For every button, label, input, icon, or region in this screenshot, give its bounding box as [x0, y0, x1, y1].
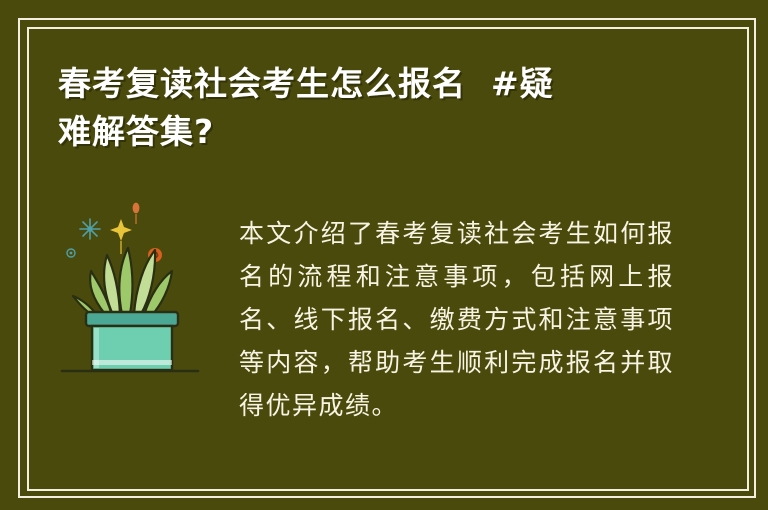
potted-plant-icon	[58, 192, 233, 382]
plant-pot	[86, 312, 178, 370]
title-line-2: 难解答集?	[58, 108, 678, 156]
potted-plant-illustration	[58, 192, 233, 382]
dot-sparkle	[133, 203, 140, 224]
poster-canvas: 春考复读社会考生怎么报名 #疑 难解答集?	[0, 0, 768, 510]
small-dot-sparkle	[67, 249, 75, 257]
title-line-1: 春考复读社会考生怎么报名 #疑	[58, 60, 678, 108]
content-row: 本文介绍了春考复读社会考生如何报名的流程和注意事项，包括网上报名、线下报名、缴费…	[58, 192, 678, 452]
snowflake-sparkle	[80, 219, 100, 239]
page-title: 春考复读社会考生怎么报名 #疑 难解答集?	[58, 60, 678, 156]
article-summary-text: 本文介绍了春考复读社会考生如何报名的流程和注意事项，包括网上报名、线下报名、缴费…	[233, 192, 678, 427]
